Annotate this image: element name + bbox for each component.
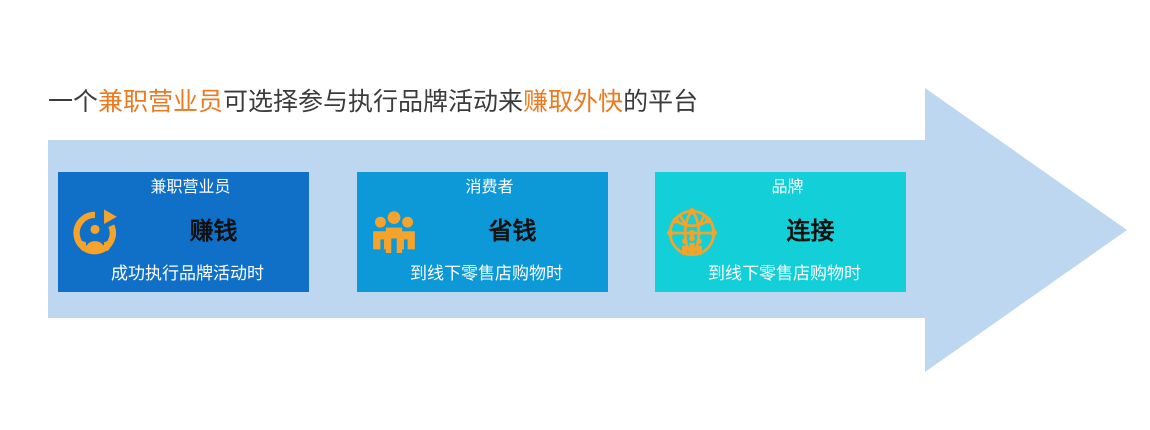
- card-consumer[interactable]: 消费者 省钱 到线下零售店购物时: [357, 172, 608, 292]
- card-footer-label: 到线下零售店购物时: [357, 262, 608, 286]
- card-footer-label: 到线下零售店购物时: [655, 262, 906, 286]
- card-footer-label: 成功执行品牌活动时: [58, 262, 309, 286]
- card-brand[interactable]: 品牌: [655, 172, 906, 292]
- card-main-label: 连接: [715, 216, 906, 248]
- card-main-label: 省钱: [417, 216, 608, 248]
- card-title: 兼职营业员: [58, 177, 309, 199]
- card-part-time-clerk[interactable]: 兼职营业员 赚钱 成功执行品牌活动时: [58, 172, 309, 292]
- card-row: 兼职营业员 赚钱 成功执行品牌活动时: [0, 0, 1150, 430]
- card-title: 品牌: [655, 177, 906, 199]
- network-globe-people-icon: [663, 204, 721, 262]
- card-main-label: 赚钱: [118, 216, 309, 248]
- slide-canvas: 一个兼职营业员可选择参与执行品牌活动来赚取外快的平台 兼职营业员: [0, 0, 1150, 430]
- card-title: 消费者: [357, 177, 608, 199]
- person-refresh-icon: [66, 204, 124, 262]
- group-people-icon: [365, 204, 423, 262]
